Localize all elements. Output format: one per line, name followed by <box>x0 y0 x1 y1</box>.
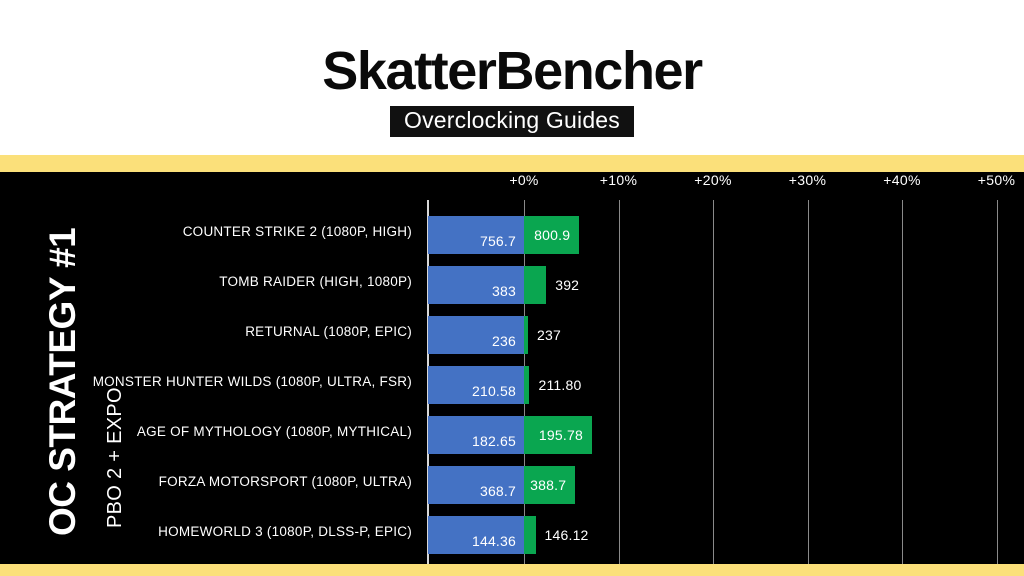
chart-bar-rows: COUNTER STRIKE 2 (1080P, HIGH)756.7800.9… <box>0 200 1024 564</box>
accent-rule-top <box>0 155 1024 172</box>
brand-title: SkatterBencher <box>0 40 1024 102</box>
chart-row: TOMB RAIDER (HIGH, 1080P)383392 <box>0 260 1024 310</box>
baseline-bar: 756.7 <box>428 216 524 254</box>
benchmark-chart: +0%+10%+20%+30%+40%+50% COUNTER STRIKE 2… <box>0 172 1024 564</box>
overclock-value: 237 <box>528 316 561 354</box>
baseline-bar: 383 <box>428 266 524 304</box>
overclock-value: 211.80 <box>529 366 581 404</box>
baseline-bar: 236 <box>428 316 524 354</box>
chart-row: MONSTER HUNTER WILDS (1080P, ULTRA, FSR)… <box>0 360 1024 410</box>
x-axis-tick-50: +50% <box>978 172 1015 188</box>
slide-root: SkatterBencher Overclocking Guides OC ST… <box>0 0 1024 576</box>
baseline-value: 182.65 <box>472 422 524 460</box>
baseline-bar: 182.65 <box>428 416 524 454</box>
overclock-value: 800.9 <box>524 216 579 254</box>
accent-rule-bottom <box>0 564 1024 576</box>
chart-row: FORZA MOTORSPORT (1080P, ULTRA)368.7388.… <box>0 460 1024 510</box>
row-label: HOMEWORLD 3 (1080P, DLSS-P, EPIC) <box>0 523 412 541</box>
chart-row: HOMEWORLD 3 (1080P, DLSS-P, EPIC)144.361… <box>0 510 1024 560</box>
chart-row: AGE OF MYTHOLOGY (1080P, MYTHICAL)182.65… <box>0 410 1024 460</box>
baseline-bar: 368.7 <box>428 466 524 504</box>
chart-row: RETURNAL (1080P, EPIC)236237 <box>0 310 1024 360</box>
baseline-value: 368.7 <box>480 472 524 510</box>
brand-subtitle-wrap: Overclocking Guides <box>0 106 1024 137</box>
baseline-value: 383 <box>492 272 524 310</box>
brand-subtitle: Overclocking Guides <box>390 106 634 137</box>
row-label: RETURNAL (1080P, EPIC) <box>0 323 412 341</box>
overclock-bar <box>524 266 546 304</box>
strategy-title-rotated: OC STRATEGY #1 <box>41 0 93 196</box>
header-banner: SkatterBencher Overclocking Guides <box>0 0 1024 155</box>
overclock-value: 146.12 <box>536 516 589 554</box>
x-axis-tick-30: +30% <box>789 172 826 188</box>
row-label: FORZA MOTORSPORT (1080P, ULTRA) <box>0 473 412 491</box>
x-axis-tick-40: +40% <box>883 172 920 188</box>
baseline-value: 210.58 <box>472 372 524 410</box>
x-axis-tick-20: +20% <box>694 172 731 188</box>
x-axis-tick-0: +0% <box>509 172 538 188</box>
row-label: TOMB RAIDER (HIGH, 1080P) <box>0 273 412 291</box>
baseline-value: 236 <box>492 322 524 360</box>
overclock-value: 392 <box>546 266 579 304</box>
baseline-bar: 210.58 <box>428 366 524 404</box>
baseline-value: 756.7 <box>480 222 524 260</box>
row-label: COUNTER STRIKE 2 (1080P, HIGH) <box>0 223 412 241</box>
overclock-value: 195.78 <box>524 416 592 454</box>
overclock-bar <box>524 516 536 554</box>
chart-row: COUNTER STRIKE 2 (1080P, HIGH)756.7800.9 <box>0 210 1024 260</box>
overclock-value: 388.7 <box>524 466 575 504</box>
row-label: AGE OF MYTHOLOGY (1080P, MYTHICAL) <box>0 423 412 441</box>
row-label: MONSTER HUNTER WILDS (1080P, ULTRA, FSR) <box>0 373 412 391</box>
baseline-value: 144.36 <box>472 522 524 560</box>
x-axis-tick-10: +10% <box>600 172 637 188</box>
x-axis-tick-labels: +0%+10%+20%+30%+40%+50% <box>0 172 1024 200</box>
baseline-bar: 144.36 <box>428 516 524 554</box>
